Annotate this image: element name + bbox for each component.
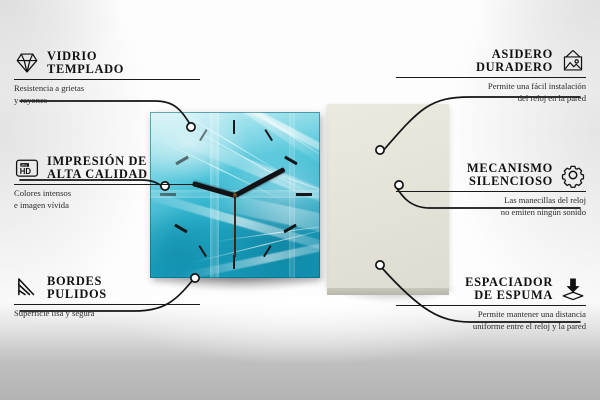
feature-bordes-pulidos: BORDES PULIDOS Superficie lisa y segura <box>14 275 200 320</box>
feature-title-line2: DURADERO <box>476 61 553 74</box>
feature-rule <box>14 184 200 185</box>
feature-description-line2: e imagen vívida <box>14 200 200 211</box>
feature-rule <box>396 77 586 78</box>
feature-title-line2: PULIDOS <box>47 288 107 301</box>
feature-description-line2: uniforme entre el reloj y la pared <box>396 321 586 332</box>
connector-dot-vidrio <box>187 123 195 131</box>
feature-rule <box>14 304 200 305</box>
feature-description-line1: Permite mantener una distancia <box>396 309 586 320</box>
feature-description-line2: y rayones <box>14 95 200 106</box>
connector-dot-asidero <box>376 146 384 154</box>
feature-description-line2: del reloj en la pared <box>396 93 586 104</box>
connector-dot-espaciador <box>376 261 384 269</box>
feature-asidero-duradero: ASIDERO DURADERO Permite una fácil insta… <box>396 48 586 104</box>
feature-title-line2: TEMPLADO <box>47 63 124 76</box>
feature-rule <box>14 79 200 80</box>
feature-description-line2: no emiten ningún sonido <box>396 207 586 218</box>
feature-description-line1: Las manecillas del reloj <box>396 195 586 206</box>
foam-spacer-arrow-icon <box>560 276 586 302</box>
feature-title-line2: SILENCIOSO <box>467 175 553 188</box>
feature-description-line1: Permite una fácil instalación <box>396 81 586 92</box>
wall-hanger-frame-icon <box>560 48 586 74</box>
diamond-icon <box>14 50 40 76</box>
feature-title-line2: DE ESPUMA <box>465 289 553 302</box>
feature-mecanismo-silencioso: MECANISMO SILENCIOSO Las manecillas del … <box>396 162 586 218</box>
feature-description-line1: Resistencia a grietas <box>14 83 200 94</box>
polished-edges-icon <box>14 275 40 301</box>
feature-title-line2: ALTA CALIDAD <box>47 168 148 181</box>
feature-impresion-alta-calidad: ultra HD IMPRESIÓN DE ALTA CALIDAD Color… <box>14 155 200 211</box>
infographic-canvas: VIDRIO TEMPLADO Resistencia a grietas y … <box>0 0 600 400</box>
feature-espaciador-de-espuma: ESPACIADOR DE ESPUMA Permite mantener un… <box>396 276 586 332</box>
svg-text:HD: HD <box>20 167 32 176</box>
wire-asidero <box>382 97 580 152</box>
feature-description-line1: Colores intensos <box>14 188 200 199</box>
feature-vidrio-templado: VIDRIO TEMPLADO Resistencia a grietas y … <box>14 50 200 106</box>
feature-rule <box>396 305 586 306</box>
feature-rule <box>396 191 586 192</box>
feature-description-line1: Superficie lisa y segura <box>14 308 200 319</box>
ultra-hd-icon: ultra HD <box>14 155 40 181</box>
gear-icon <box>560 162 586 188</box>
